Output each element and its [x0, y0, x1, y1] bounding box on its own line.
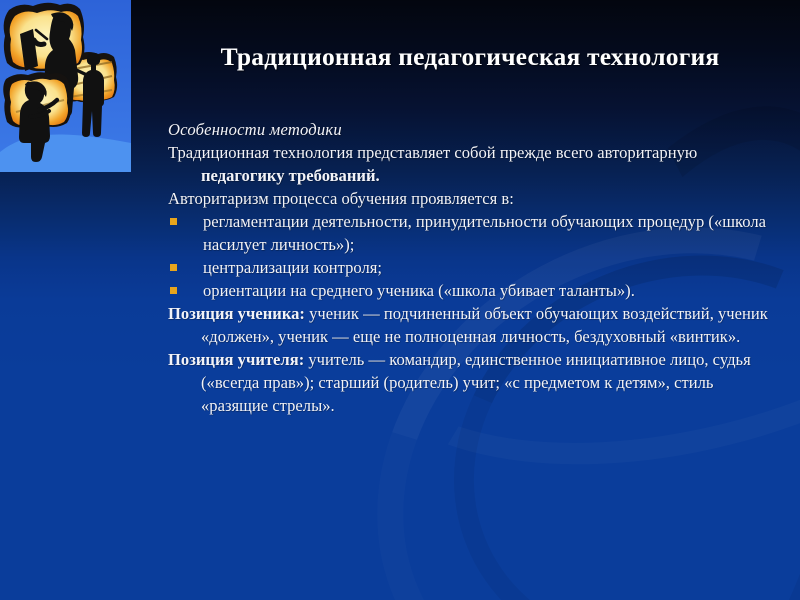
intro-emphasis: педагогику требований.	[201, 166, 380, 185]
student-position-label: Позиция ученика:	[168, 304, 305, 323]
list-item-label: централизации контроля;	[203, 258, 382, 277]
presentation-slide: Традиционная педагогическая технология О…	[0, 0, 800, 600]
student-position-paragraph: Позиция ученика: ученик — подчиненный об…	[168, 302, 768, 348]
list-item-label: ориентации на среднего ученика («школа у…	[203, 281, 635, 300]
list-item: ориентации на среднего ученика («школа у…	[168, 279, 768, 302]
slide-body: Особенности методики Традиционная технол…	[168, 118, 768, 417]
features-bullet-list: регламентации деятельности, принудительн…	[168, 210, 768, 302]
slide-title: Традиционная педагогическая технология	[152, 42, 788, 73]
square-bullet-icon	[170, 287, 177, 294]
square-bullet-icon	[170, 264, 177, 271]
square-bullet-icon	[170, 218, 177, 225]
intro-lead-text: Традиционная технология представляет соб…	[168, 143, 697, 162]
list-item: регламентации деятельности, принудительн…	[168, 210, 768, 256]
section-subheading: Особенности методики	[168, 118, 768, 141]
students-reading-illustration	[0, 0, 131, 172]
teacher-position-paragraph: Позиция учителя: учитель — командир, еди…	[168, 348, 768, 417]
teacher-position-label: Позиция учителя:	[168, 350, 304, 369]
intro-second-line: Авторитаризм процесса обучения проявляет…	[168, 187, 768, 210]
list-item: централизации контроля;	[168, 256, 768, 279]
intro-paragraph: Традиционная технология представляет соб…	[168, 141, 768, 187]
list-item-label: регламентации деятельности, принудительн…	[203, 212, 766, 254]
